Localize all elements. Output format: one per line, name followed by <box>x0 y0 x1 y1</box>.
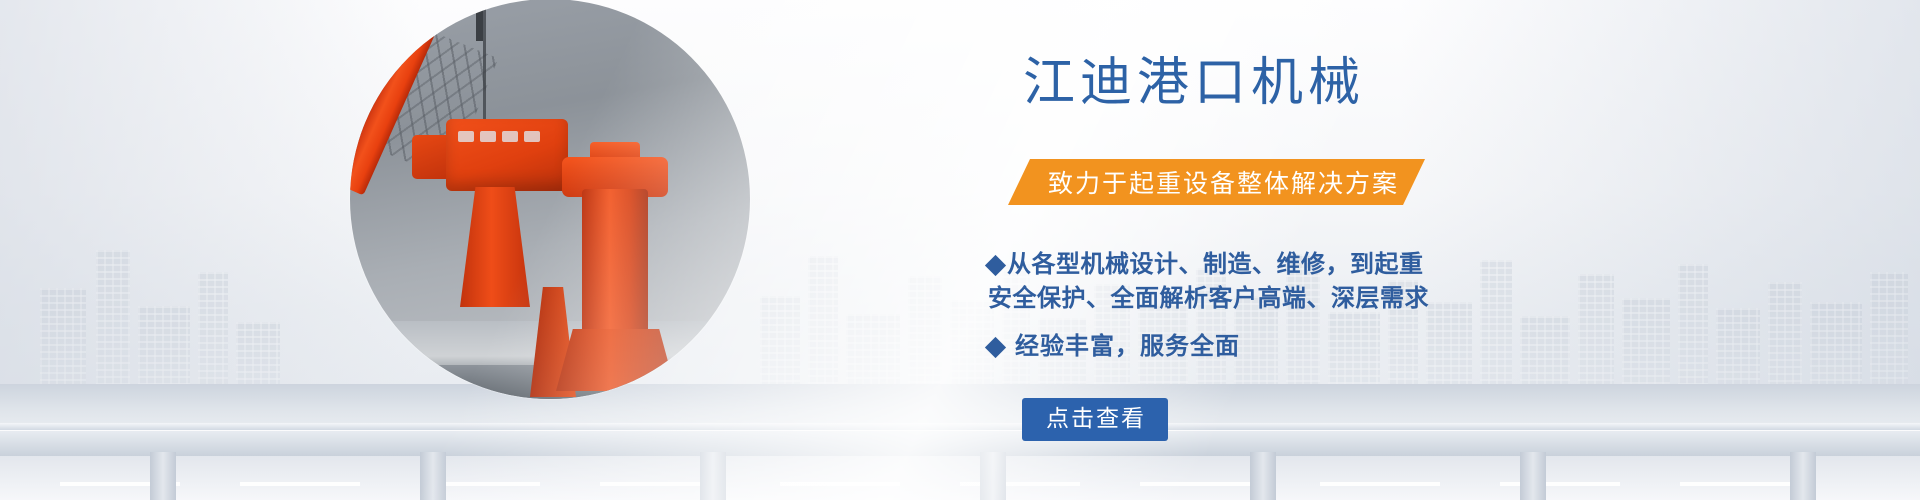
banner-text-block: 江迪港口机械 致力于起重设备整体解决方案 从各型机械设计、制造、维修，到起重 安… <box>0 0 1920 500</box>
hero-banner: 江迪港口机械 致力于起重设备整体解决方案 从各型机械设计、制造、维修，到起重 安… <box>0 0 1920 500</box>
bullet-item-1: 从各型机械设计、制造、维修，到起重 安全保护、全面解析客户高端、深层需求 <box>988 248 1429 316</box>
cta-button[interactable]: 点击查看 <box>1022 398 1168 441</box>
diamond-bullet-icon <box>985 337 1006 358</box>
banner-tagline-ribbon: 致力于起重设备整体解决方案 <box>1008 159 1425 205</box>
bullet-item-2-line-1: 经验丰富，服务全面 <box>1015 333 1240 360</box>
bullet-item-1-line-1: 从各型机械设计、制造、维修，到起重 <box>1007 251 1424 278</box>
bullet-item-2: 经验丰富，服务全面 <box>988 330 1240 364</box>
banner-tagline-text: 致力于起重设备整体解决方案 <box>1048 164 1399 200</box>
diamond-bullet-icon <box>985 255 1006 276</box>
bullet-item-1-line-2: 安全保护、全面解析客户高端、深层需求 <box>988 285 1429 312</box>
banner-title: 江迪港口机械 <box>1023 57 1365 109</box>
